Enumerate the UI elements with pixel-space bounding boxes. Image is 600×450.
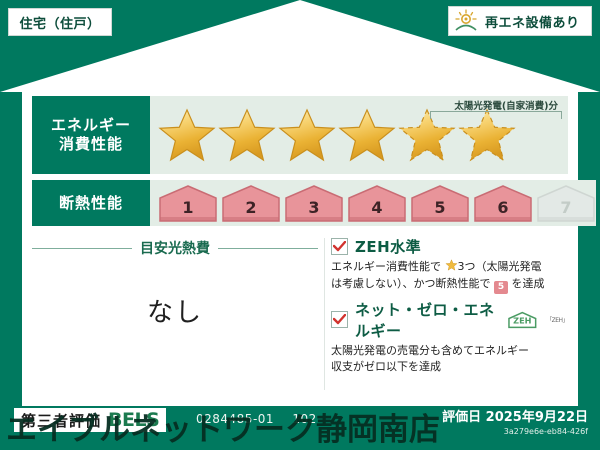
claim-net-zero-body: 太陽光発電の売電分も含めてエネルギー 収支がゼロ以下を達成 [331, 343, 568, 376]
insulation-grade-list: 1234567 [150, 180, 596, 226]
utility-cost-section: 目安光熱費 なし [32, 234, 318, 394]
label-lower-area: 目安光熱費 なし ZEH水準 [32, 234, 568, 394]
claims-section: ZEH水準 エネルギー消費性能で 3つ（太陽光発電 は考慮しない）、かつ断熱性能… [331, 234, 568, 394]
claim-zeh-text-3: を達成 [512, 277, 545, 290]
grade-value: 7 [560, 198, 571, 217]
claim-zeh-standard: ZEH水準 エネルギー消費性能で 3つ（太陽光発電 は考慮しない）、かつ断熱性能… [331, 236, 568, 294]
zeh-house-logo: ZEH [506, 309, 539, 331]
checkbox-zeh-standard[interactable] [331, 238, 348, 255]
star-filled-2 [216, 106, 278, 164]
zeh-logo-caption: 「ZEH」 [546, 315, 568, 324]
grade-value: 5 [434, 198, 445, 217]
energy-key-line1: エネルギー [51, 116, 131, 135]
title-subtitle: 建築物省エネ法に基づく [0, 30, 600, 49]
section-divider [324, 238, 325, 390]
utility-cost-value: なし [32, 292, 318, 329]
energy-key-line2: 消費性能 [59, 135, 123, 154]
claim-zeh-text-1: エネルギー消費性能で [331, 260, 441, 273]
grade-value: 4 [371, 198, 382, 217]
insulation-performance-key: 断熱性能 [32, 180, 150, 226]
claim-zeh-standard-head: ZEH水準 [331, 236, 568, 257]
insulation-key-label: 断熱性能 [59, 194, 123, 213]
insulation-performance-row: 断熱性能 1234567 [32, 180, 568, 226]
agency-watermark: エイブルネットワーク静岡南店 [6, 404, 596, 449]
claim-zeh-standard-body: エネルギー消費性能で 3つ（太陽光発電 は考慮しない）、かつ断熱性能で 5 を達… [331, 259, 568, 294]
star-filled-1 [156, 106, 218, 164]
solar-note-label: 太陽光発電(自家消費)分 [454, 98, 558, 112]
energy-performance-row: エネルギー 消費性能 太陽光発電(自家消費)分 [32, 96, 568, 174]
star-filled-4 [336, 106, 398, 164]
insulation-grade-3: 3 [284, 184, 344, 222]
label-footer: 第三者評価 BELS 0284485-01 102 評価日 2025年9月22日… [0, 402, 600, 450]
svg-text:ZEH: ZEH [514, 315, 532, 325]
label-body-panel: エネルギー 消費性能 太陽光発電(自家消費)分 [22, 88, 578, 406]
claim-nz-text-2: 収支がゼロ以下を達成 [331, 360, 441, 373]
insulation-grade-7: 7 [536, 184, 596, 222]
checkbox-net-zero-energy[interactable] [331, 311, 348, 328]
claim-net-zero-title: ネット・ゼロ・エネルギー [355, 299, 499, 341]
grade-value: 6 [497, 198, 508, 217]
rule-right [218, 248, 318, 249]
grade-value: 3 [308, 198, 319, 217]
rule-left [32, 248, 132, 249]
claim-zeh-standard-title: ZEH水準 [355, 236, 421, 257]
insulation-grade-4: 4 [347, 184, 407, 222]
inline-grade-badge: 5 [494, 281, 508, 294]
grade-value: 1 [182, 198, 193, 217]
claim-zeh-text-star: 3つ（太陽光発電 [458, 260, 542, 273]
insulation-grade-6: 6 [473, 184, 533, 222]
check-icon [333, 314, 346, 325]
star-filled-3 [276, 106, 338, 164]
claim-nz-text-1: 太陽光発電の売電分も含めてエネルギー [331, 344, 529, 357]
energy-performance-label: 建築物省エネ法に基づく 省エネ性能ラベル 住宅（住戸） 再エネ設備あり エネルギ… [0, 0, 600, 450]
claim-zeh-text-2: は考慮しない）、かつ断熱性能で [331, 277, 491, 290]
energy-stars-area: 太陽光発電(自家消費)分 [150, 96, 568, 174]
solar-bracket [430, 111, 562, 119]
insulation-grade-1: 1 [158, 184, 218, 222]
insulation-grade-5: 5 [410, 184, 470, 222]
utility-cost-label: 目安光熱費 [140, 238, 210, 258]
utility-cost-heading: 目安光熱費 [32, 238, 318, 258]
inline-star-icon [445, 259, 458, 271]
check-icon [333, 241, 346, 252]
insulation-grade-2: 2 [221, 184, 281, 222]
claim-net-zero-head: ネット・ゼロ・エネルギー ZEH 「ZEH」 [331, 299, 568, 341]
page-title: 省エネ性能ラベル [0, 52, 600, 88]
claim-net-zero-energy: ネット・ゼロ・エネルギー ZEH 「ZEH」 太陽光発電の売電分も含めてエネルギ… [331, 299, 568, 376]
label-title-block: 建築物省エネ法に基づく 省エネ性能ラベル [0, 30, 600, 92]
grade-value: 2 [245, 198, 256, 217]
energy-performance-key: エネルギー 消費性能 [32, 96, 150, 174]
